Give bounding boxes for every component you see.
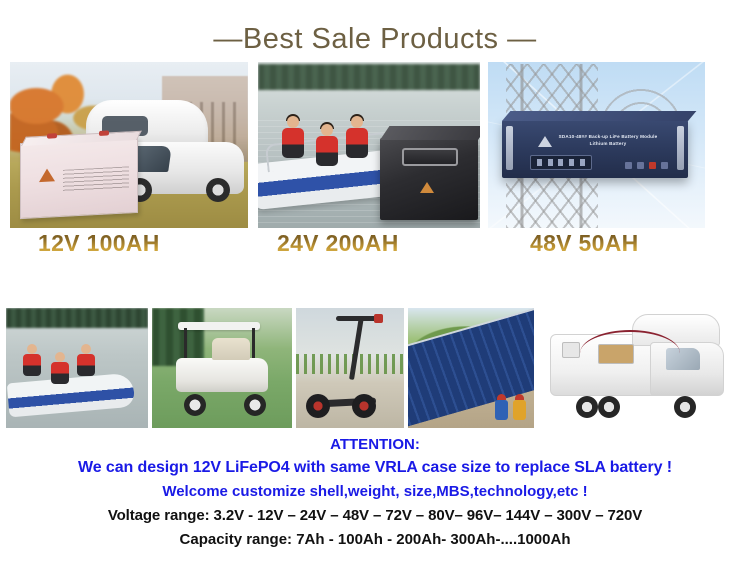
scooter-wheel-rear (306, 394, 330, 418)
battery-terminal-negative (99, 130, 109, 136)
passenger-lifejacket (51, 362, 69, 384)
vrla-battery (20, 137, 138, 219)
led-indicator (558, 159, 563, 166)
application-scooter-image (296, 308, 404, 428)
passenger-head (55, 352, 65, 362)
scooter-wheel-front (352, 394, 376, 418)
product-photo-24v[interactable] (258, 62, 480, 228)
passenger-head (287, 116, 299, 128)
led-indicator (548, 159, 553, 166)
battery-spec-text (63, 166, 129, 191)
module-brand-logo (538, 136, 552, 147)
cart-wheel-front (184, 394, 206, 416)
worker-body (513, 400, 526, 420)
led-indicator (569, 159, 574, 166)
product-photo-12v[interactable] (10, 62, 248, 228)
passenger-lifejacket (77, 354, 95, 376)
led-indicator (580, 159, 585, 166)
module-power-port (649, 162, 656, 169)
application-boat[interactable] (6, 308, 148, 428)
cart-roof (178, 322, 260, 330)
boat-passenger (314, 124, 340, 166)
module-port (625, 162, 632, 169)
rv-camper-with-vrla-battery-image (10, 62, 248, 228)
boat-passenger (50, 352, 70, 384)
module-port-panel (625, 162, 668, 169)
product-caption-24v: 24V 200AH (277, 230, 399, 257)
cart-roof-post (184, 328, 187, 358)
worker-body (495, 400, 508, 420)
battery-brand-logo (39, 168, 55, 182)
application-motorhome[interactable] (540, 308, 744, 428)
cart-wheel-rear (244, 394, 266, 416)
module-port (637, 162, 644, 169)
battery-carry-handle (402, 148, 458, 166)
rack-mount-ear-right (677, 126, 684, 170)
led-indicator (537, 159, 542, 166)
passenger-lifejacket (23, 354, 41, 376)
passenger-head (351, 116, 363, 128)
application-golf-cart-image (152, 308, 292, 428)
boat-passenger (280, 116, 306, 158)
product-caption-48v: 48V 50AH (530, 230, 639, 257)
capacity-range: Capacity range: 7Ah - 100Ah - 200Ah- 300… (0, 528, 750, 552)
module-label-line2: Lithium Battery (556, 140, 660, 147)
passenger-lifejacket (316, 136, 338, 166)
page-title: —Best Sale Products — (0, 0, 750, 58)
passenger-lifejacket (282, 128, 304, 158)
application-solar[interactable] (408, 308, 534, 428)
application-boat-image (6, 308, 148, 428)
telecom-tower-with-rack-battery-image: SDA10-48## Back-up LiFe Battery Module L… (488, 62, 705, 228)
module-label: SDA10-48## Back-up LiFe Battery Module L… (556, 133, 660, 147)
application-motorhome-image (540, 308, 744, 428)
boat-passenger (344, 116, 370, 158)
solar-worker (495, 394, 508, 420)
motorhome-wheel-rear (598, 396, 620, 418)
passenger-lifejacket (346, 128, 368, 158)
design-message: We can design 12V LiFePO4 with same VRLA… (0, 456, 750, 480)
motorhome-window (562, 342, 580, 358)
boat-passenger (22, 344, 42, 376)
application-image-strip (0, 308, 750, 428)
rack-mount-ear-left (506, 126, 513, 170)
attention-notice: ATTENTION: We can design 12V LiFePO4 wit… (0, 434, 750, 552)
module-label-line1: SDA10-48## Back-up LiFe Battery Module (556, 133, 660, 140)
module-port (661, 162, 668, 169)
solar-worker (513, 394, 526, 420)
application-solar-image (408, 308, 534, 428)
boat-hull (7, 373, 135, 418)
product-caption-12v: 12V 100AH (38, 230, 160, 257)
voltage-range: Voltage range: 3.2V - 12V – 24V – 48V – … (0, 504, 750, 528)
passenger-head (27, 344, 37, 354)
motorhome-wheel-rear (576, 396, 598, 418)
application-golf-cart[interactable] (152, 308, 292, 428)
passenger-head (81, 344, 91, 354)
cart-body (176, 358, 268, 392)
van-wheel-front (206, 178, 230, 202)
cart-roof-post (252, 328, 255, 358)
motorhome-wheel-front (674, 396, 696, 418)
passenger-head (321, 124, 333, 136)
shoreline-trees (258, 64, 480, 90)
lithium-battery-box (380, 138, 478, 220)
product-photo-row: SDA10-48## Back-up LiFe Battery Module L… (0, 62, 750, 228)
rack-battery-module: SDA10-48## Back-up LiFe Battery Module L… (502, 120, 688, 178)
battery-brand-logo (420, 182, 434, 193)
module-led-panel (530, 155, 592, 170)
battery-terminal-positive (47, 133, 57, 139)
shoreline-trees (6, 308, 148, 328)
product-caption-row: 12V 100AH 24V 200AH 48V 50AH (0, 230, 750, 264)
customize-message: Welcome customize shell,weight, size,MBS… (0, 480, 750, 504)
cart-seat (212, 338, 250, 360)
attention-heading: ATTENTION: (0, 434, 750, 456)
product-photo-48v[interactable]: SDA10-48## Back-up LiFe Battery Module L… (488, 62, 705, 228)
boat-passenger (76, 344, 96, 376)
inflatable-boat-with-battery-box-image (258, 62, 480, 228)
application-scooter[interactable] (296, 308, 404, 428)
